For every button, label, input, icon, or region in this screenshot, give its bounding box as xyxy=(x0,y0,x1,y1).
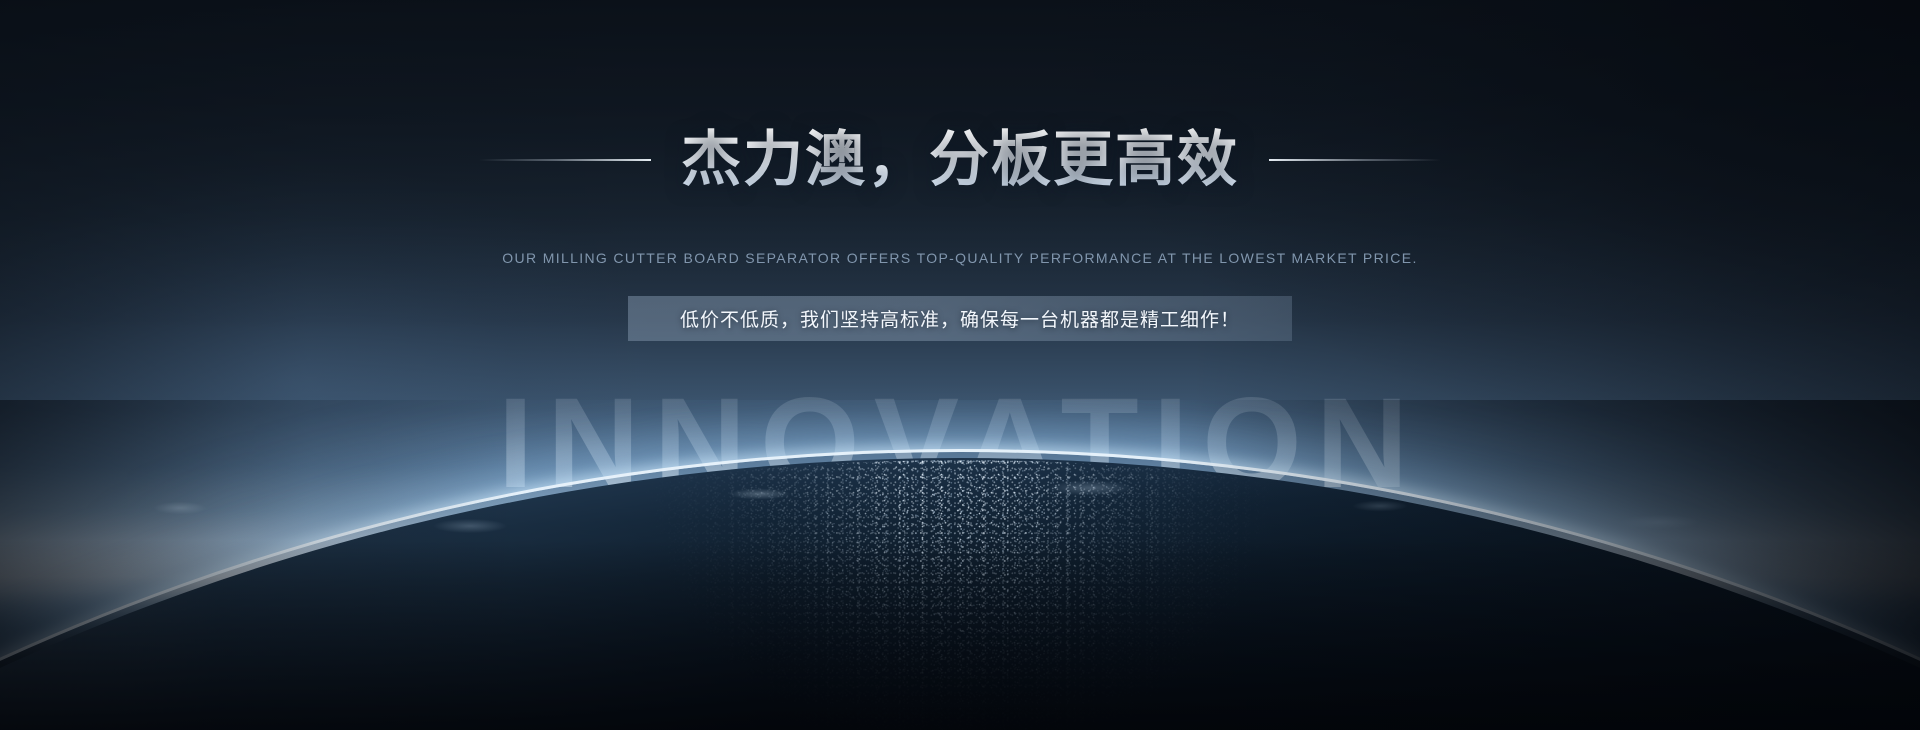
hero-highlight-banner: 低价不低质，我们坚持高标准，确保每一台机器都是精工细作！ xyxy=(628,296,1292,341)
hero-highlight-row: 低价不低质，我们坚持高标准，确保每一台机器都是精工细作！ xyxy=(0,296,1920,341)
hero-title-row: 杰力澳，分板更高效 xyxy=(0,128,1920,193)
decorative-rule-left-icon xyxy=(479,159,651,161)
decorative-rule-right-icon xyxy=(1269,159,1441,161)
hero-banner: INNOVATION 杰力澳，分板更高效 OUR MILLING CUTTER … xyxy=(0,0,1920,730)
hero-subtitle-english: OUR MILLING CUTTER BOARD SEPARATOR OFFER… xyxy=(0,250,1920,266)
page-title: 杰力澳，分板更高效 xyxy=(681,128,1239,193)
earth-limb xyxy=(0,400,1920,730)
earth-bottom-fade xyxy=(0,540,1920,730)
